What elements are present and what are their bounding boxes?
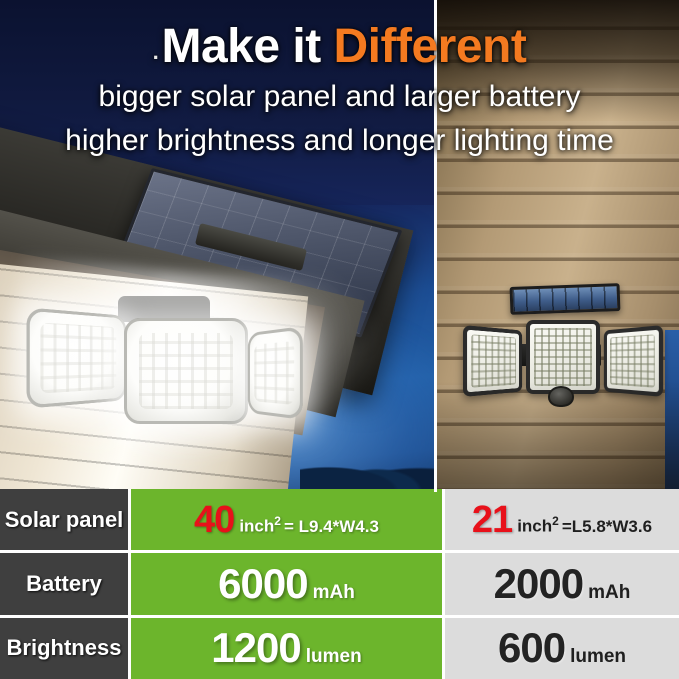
led-array-icon (610, 334, 655, 387)
value-group: 600 lumen (498, 627, 626, 669)
theirs-value: 21 (472, 501, 512, 539)
page-title-accent: Different (334, 20, 527, 73)
led-head-center (124, 318, 248, 424)
led-array-icon (41, 323, 116, 393)
led-array-icon (254, 341, 294, 406)
subtitle-line-1: bigger solar panel and larger battery (0, 77, 679, 116)
led-array-icon (139, 333, 233, 409)
theirs-unit-superscript: 2 (552, 514, 559, 528)
row-label-solar-panel: Solar panel (0, 489, 128, 550)
headline-block: ·Make it Different bigger solar panel an… (0, 0, 679, 160)
theirs-cell-brightness: 600 lumen (445, 618, 679, 679)
left-flood-light-fixture (6, 296, 296, 424)
value-group: 1200 lumen (211, 627, 361, 669)
theirs-unit: inch2 (517, 515, 559, 535)
lead-dot: · (153, 47, 160, 70)
theirs-unit: mAh (588, 583, 630, 602)
ours-value: 6000 (218, 563, 307, 605)
page-title: ·Make it Different (0, 22, 679, 72)
ours-unit: mAh (313, 583, 355, 602)
value-group: 2000 mAh (494, 563, 631, 605)
theirs-unit: lumen (570, 647, 626, 666)
value-group: 6000 mAh (218, 563, 355, 605)
comparison-table: Solar panel 40 inch2 = L9.4*W4.3 21 inch… (0, 489, 679, 679)
page-title-primary: Make it (161, 20, 333, 73)
infographic-page: ·Make it Different bigger solar panel an… (0, 0, 679, 679)
row-label-battery: Battery (0, 553, 128, 614)
led-array-icon (534, 328, 592, 386)
ours-unit: lumen (306, 647, 362, 666)
led-head-right (248, 326, 303, 420)
ours-cell-solar-panel: 40 inch2 = L9.4*W4.3 (131, 489, 442, 550)
ours-detail: = L9.4*W4.3 (284, 518, 379, 535)
table-row: Battery 6000 mAh 2000 mAh (0, 553, 679, 614)
theirs-cell-solar-panel: 21 inch2 =L5.8*W3.6 (445, 489, 679, 550)
theirs-detail: =L5.8*W3.6 (562, 518, 652, 535)
ours-cell-battery: 6000 mAh (131, 553, 442, 614)
ours-value: 40 (194, 501, 234, 539)
subtitle-line-2: higher brightness and longer lighting ti… (0, 121, 679, 160)
tree-silhouettes (300, 452, 436, 492)
led-array-icon (471, 334, 516, 387)
theirs-value: 600 (498, 627, 565, 669)
led-head-left (27, 307, 127, 408)
row-label-brightness: Brightness (0, 618, 128, 679)
value-group: 21 inch2 =L5.8*W3.6 (472, 501, 652, 539)
theirs-unit-text: inch (517, 517, 552, 536)
value-group: 40 inch2 = L9.4*W4.3 (194, 501, 379, 539)
hero-photo-area: ·Make it Different bigger solar panel an… (0, 0, 679, 492)
ours-unit-superscript: 2 (274, 514, 281, 528)
table-row: Solar panel 40 inch2 = L9.4*W4.3 21 inch… (0, 489, 679, 550)
theirs-value: 2000 (494, 563, 583, 605)
ours-value: 1200 (211, 627, 300, 669)
ours-cell-brightness: 1200 lumen (131, 618, 442, 679)
theirs-cell-battery: 2000 mAh (445, 553, 679, 614)
ground-shadow-lower (436, 382, 679, 492)
ours-unit: inch2 (239, 515, 281, 535)
table-row: Brightness 1200 lumen 600 lumen (0, 618, 679, 679)
ours-unit-text: inch (239, 517, 274, 536)
